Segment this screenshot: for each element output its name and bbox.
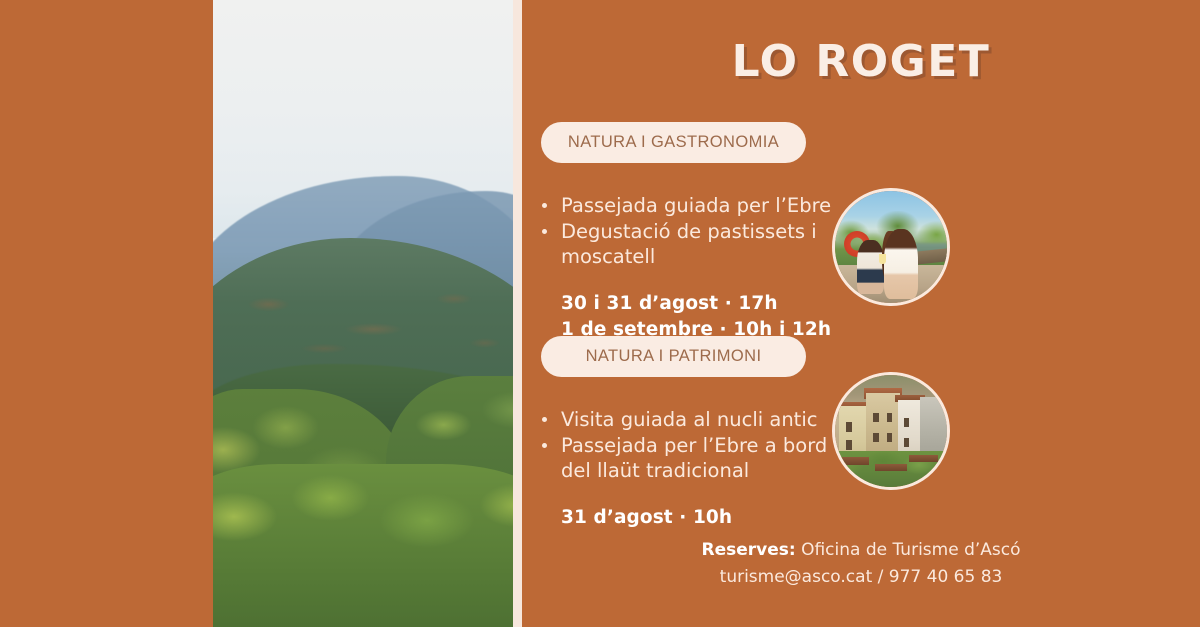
list-item: Passejada per l’Ebre a bord del llaüt tr…	[541, 433, 841, 483]
planter-box	[875, 464, 906, 472]
section-natura-i-patrimoni: NATURA I PATRIMONI Visita guiada al nucl…	[522, 336, 1200, 531]
section-badge-gastronomia: NATURA I GASTRONOMIA	[541, 122, 806, 163]
window	[887, 433, 893, 442]
photo-edge-strip	[513, 0, 522, 627]
window	[873, 413, 879, 422]
window	[904, 438, 908, 447]
content-column: LO ROGET NATURA I GASTRONOMIA Passejada …	[522, 0, 1200, 627]
footer-organisation: Oficina de Turisme d’Ascó	[796, 540, 1021, 560]
window	[887, 413, 893, 422]
date-line: 31 d’agost · 10h	[561, 505, 1200, 531]
page-title: LO ROGET	[522, 36, 1200, 87]
circle-photo-gastronomia	[832, 188, 950, 306]
circle-photo-patrimoni	[832, 372, 950, 490]
window	[846, 440, 852, 450]
section-badge-patrimoni: NATURA I PATRIMONI	[541, 336, 806, 377]
foreground-trees	[213, 464, 522, 627]
footer-label: Reserves:	[702, 540, 796, 560]
footer-contact-line: turisme@asco.cat / 977 40 65 83	[522, 564, 1200, 591]
activity-list-gastronomia: Passejada guiada per l’Ebre Degustació d…	[541, 193, 841, 270]
landscape-illustration	[213, 0, 522, 627]
poster-canvas: LO ROGET NATURA I GASTRONOMIA Passejada …	[0, 0, 1200, 627]
boat-scene-illustration	[835, 191, 947, 303]
window	[873, 433, 879, 442]
activity-list-patrimoni: Visita guiada al nucli antic Passejada p…	[541, 407, 841, 484]
date-list-patrimoni: 31 d’agost · 10h	[541, 505, 1200, 531]
section-natura-i-gastronomia: NATURA I GASTRONOMIA Passejada guiada pe…	[522, 122, 1200, 343]
footer-contact: Reserves: Oficina de Turisme d’Ascó turi…	[522, 537, 1200, 591]
footer-reservation-line: Reserves: Oficina de Turisme d’Ascó	[522, 537, 1200, 564]
planter-box	[842, 457, 869, 465]
drink-glass-icon	[879, 254, 886, 264]
list-item: Passejada guiada per l’Ebre	[541, 193, 841, 218]
landscape-photo	[213, 0, 522, 627]
planter-box	[909, 455, 938, 463]
person-right	[884, 229, 918, 298]
window	[904, 418, 908, 427]
list-item: Visita guiada al nucli antic	[541, 407, 841, 432]
person-left	[857, 240, 884, 294]
list-item: Degustació de pastissets i moscatell	[541, 219, 841, 269]
old-town-illustration	[835, 375, 947, 487]
window	[846, 422, 852, 432]
